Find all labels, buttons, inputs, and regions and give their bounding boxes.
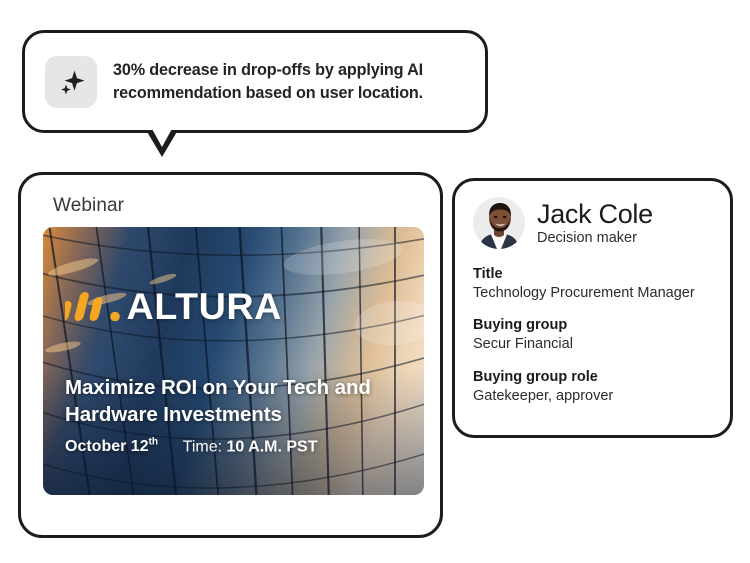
webinar-date-suffix: th [149, 437, 158, 448]
screenshot-stage: 30% decrease in drop-offs by applying AI… [0, 0, 750, 563]
ai-insight-callout: 30% decrease in drop-offs by applying AI… [22, 30, 488, 133]
webinar-time-label: Time: [183, 438, 222, 455]
sparkle-icon [45, 56, 97, 108]
contact-field-title: Title Technology Procurement Manager [473, 265, 714, 303]
webinar-schedule: October 12th Time: 10 A.M. PST [65, 437, 318, 456]
callout-tail-fill [151, 127, 173, 147]
field-value: Secur Financial [473, 335, 714, 355]
callout-text: 30% decrease in drop-offs by applying AI… [113, 59, 467, 105]
webinar-date: October 12th [65, 438, 158, 455]
webinar-banner-image: ALTURA Maximize ROI on Your Tech and Har… [43, 227, 424, 495]
webinar-card-label: Webinar [53, 195, 422, 217]
contact-role: Decision maker [537, 230, 653, 246]
field-value: Technology Procurement Manager [473, 284, 714, 304]
field-label: Title [473, 265, 714, 284]
webinar-card[interactable]: Webinar [18, 172, 443, 538]
field-label: Buying group [473, 316, 714, 335]
avatar [473, 197, 525, 249]
altura-logo-mark [65, 287, 121, 326]
contact-header: Jack Cole Decision maker [473, 197, 714, 249]
contact-identity: Jack Cole Decision maker [537, 200, 653, 246]
field-value: Gatekeeper, approver [473, 387, 714, 407]
field-label: Buying group role [473, 368, 714, 387]
altura-logo: ALTURA [65, 287, 280, 326]
contact-name: Jack Cole [537, 200, 653, 228]
webinar-time-value: 10 A.M. PST [227, 438, 318, 455]
contact-field-buying-group: Buying group Secur Financial [473, 316, 714, 354]
contact-field-buying-group-role: Buying group role Gatekeeper, approver [473, 368, 714, 406]
altura-logo-wordmark: ALTURA [126, 288, 281, 325]
contact-card[interactable]: Jack Cole Decision maker Title Technolog… [452, 178, 733, 438]
webinar-title: Maximize ROI on Your Tech and Hardware I… [65, 374, 395, 429]
